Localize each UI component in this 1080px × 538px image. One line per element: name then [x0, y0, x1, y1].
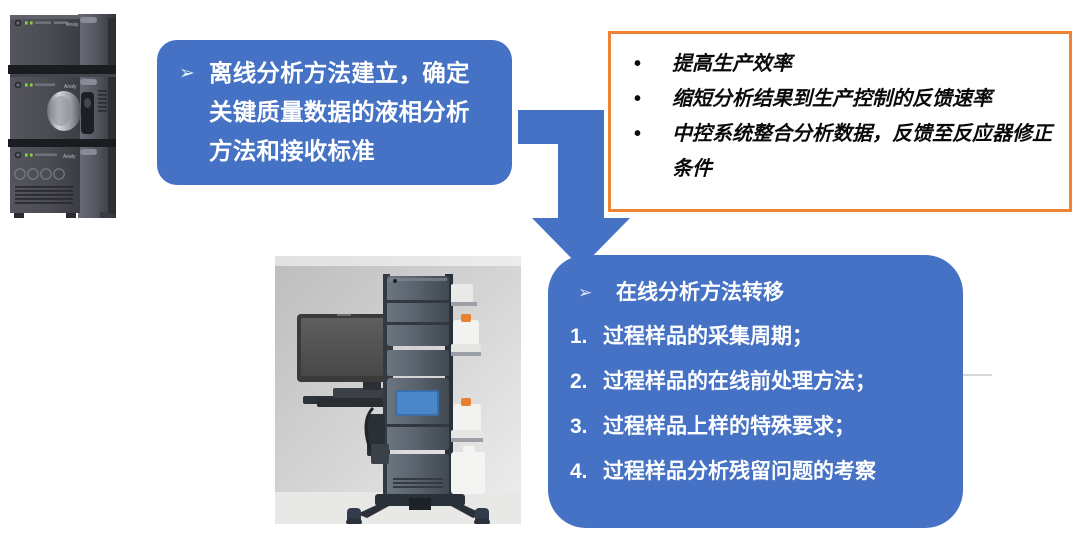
benefit-text: 提高生产效率 — [672, 47, 1061, 82]
arrow-bullet-icon: ➢ — [570, 272, 616, 314]
faint-divider-line — [962, 374, 992, 376]
online-transfer-heading-row: ➢ 在线分析方法转移 — [570, 272, 947, 314]
arrow-bullet-icon: ➢ — [175, 54, 209, 93]
list-number: 2. — [570, 359, 603, 404]
list-item: • 缩短分析结果到生产控制的反馈速率 — [625, 82, 1061, 117]
benefits-list: • 提高生产效率 • 缩短分析结果到生产控制的反馈速率 • 中控系统整合分析数据… — [625, 47, 1061, 187]
benefit-text: 中控系统整合分析数据，反馈至反应器修正条件 — [672, 117, 1061, 187]
list-item: 4. 过程样品分析残留问题的考察 — [570, 449, 947, 494]
bullet-dot-icon: • — [625, 117, 672, 152]
list-item: • 中控系统整合分析数据，反馈至反应器修正条件 — [625, 117, 1061, 187]
list-number: 4. — [570, 449, 603, 494]
benefit-text: 缩短分析结果到生产控制的反馈速率 — [672, 82, 1061, 117]
list-item: 2. 过程样品的在线前处理方法； — [570, 359, 947, 404]
svg-text:Analy: Analy — [63, 154, 76, 160]
list-item: • 提高生产效率 — [625, 47, 1061, 82]
offline-method-callout[interactable]: ➢ 离线分析方法建立，确定关键质量数据的液相分析方法和接收标准 — [157, 40, 512, 185]
bullet-dot-icon: • — [625, 82, 672, 117]
online-transfer-heading: 在线分析方法转移 — [616, 272, 784, 314]
bullet-dot-icon: • — [625, 47, 672, 82]
online-instrument-photo — [275, 256, 521, 524]
list-item-text: 过程样品分析残留问题的考察 — [603, 449, 947, 494]
list-number: 3. — [570, 404, 603, 449]
offline-method-text: 离线分析方法建立，确定关键质量数据的液相分析方法和接收标准 — [209, 54, 492, 171]
online-transfer-list: 1. 过程样品的采集周期； 2. 过程样品的在线前处理方法； 3. 过程样品上样… — [570, 314, 947, 494]
offline-instrument-photo: Analy Analy Analy — [4, 6, 128, 224]
list-number: 1. — [570, 314, 603, 359]
online-transfer-callout[interactable]: ➢ 在线分析方法转移 1. 过程样品的采集周期； 2. 过程样品的在线前处理方法… — [548, 255, 963, 528]
list-item: 1. 过程样品的采集周期； — [570, 314, 947, 359]
list-item-text: 过程样品上样的特殊要求； — [603, 404, 947, 449]
svg-text:Analy: Analy — [64, 84, 77, 90]
svg-text:Analy: Analy — [66, 22, 79, 28]
list-item: 3. 过程样品上样的特殊要求； — [570, 404, 947, 449]
benefits-panel: • 提高生产效率 • 缩短分析结果到生产控制的反馈速率 • 中控系统整合分析数据… — [608, 31, 1072, 212]
list-item-text: 过程样品的采集周期； — [603, 314, 947, 359]
list-item-text: 过程样品的在线前处理方法； — [603, 359, 947, 404]
